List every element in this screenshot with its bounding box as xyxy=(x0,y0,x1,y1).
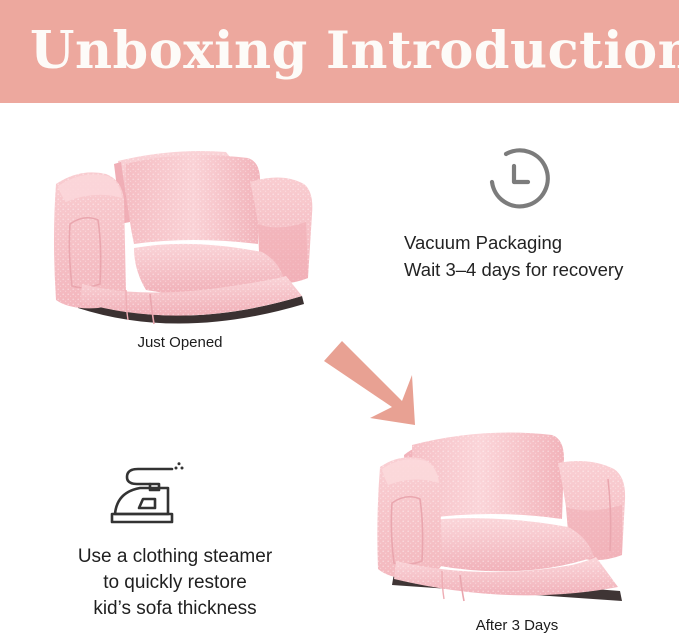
kids-sofa-restored-illustration xyxy=(372,415,662,611)
caption-just-opened: Just Opened xyxy=(22,334,338,351)
vacuum-note-line-2: Wait 3–4 days for recovery xyxy=(404,256,676,283)
page-title: Unboxing Introduction xyxy=(30,20,655,82)
clothing-iron-steamer-icon xyxy=(110,462,188,528)
header-banner: Unboxing Introduction xyxy=(0,0,679,103)
kids-sofa-compressed-illustration xyxy=(22,128,338,333)
steamer-note-line-3: kid’s sofa thickness xyxy=(40,596,310,622)
sofa-just-opened-image xyxy=(22,128,338,333)
steamer-note-line-2: to quickly restore xyxy=(40,570,310,596)
sofa-after-3-days-image xyxy=(372,415,662,611)
vacuum-note-text: Vacuum Packaging Wait 3–4 days for recov… xyxy=(404,229,676,283)
steamer-note-line-1: Use a clothing steamer xyxy=(40,544,310,570)
caption-after-3-days: After 3 Days xyxy=(372,617,662,634)
clock-icon xyxy=(488,148,552,212)
vacuum-note-line-1: Vacuum Packaging xyxy=(404,229,676,256)
steamer-note-text: Use a clothing steamer to quickly restor… xyxy=(40,544,310,622)
